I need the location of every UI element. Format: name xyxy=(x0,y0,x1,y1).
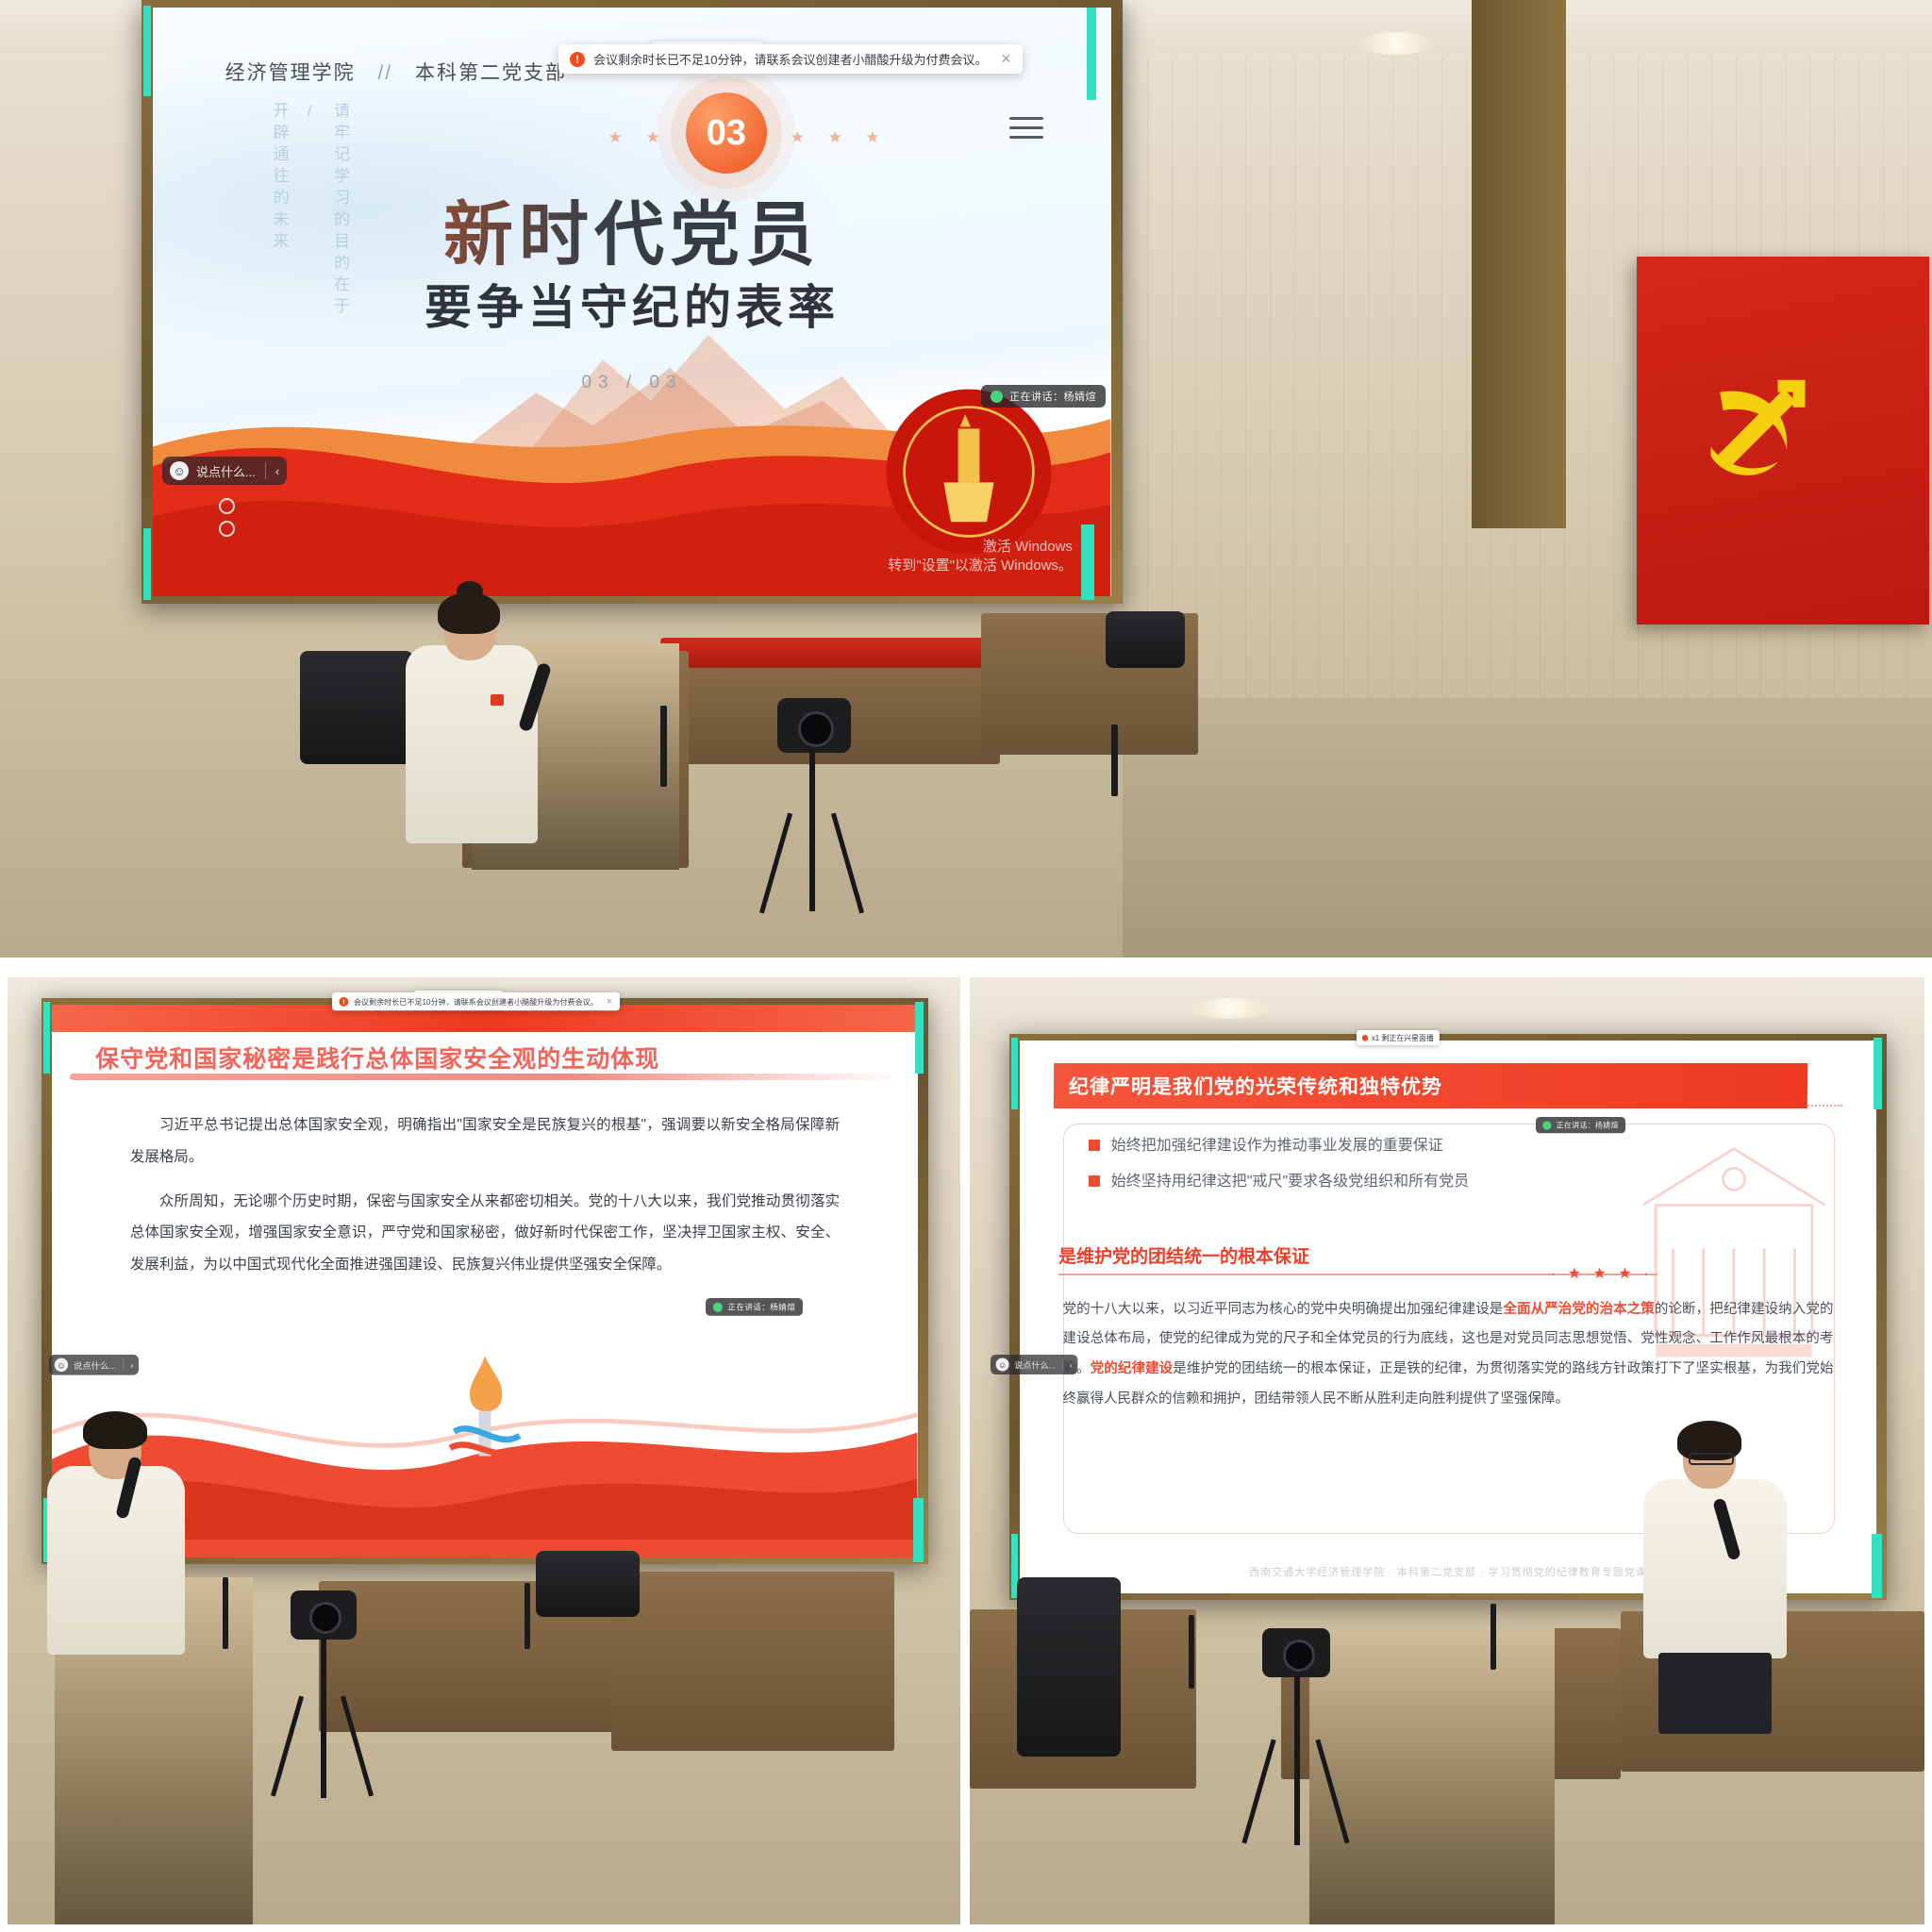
tripod-leg xyxy=(1241,1740,1275,1844)
chat-input-bar[interactable]: ☺ 说点什么... ‹ xyxy=(991,1355,1078,1374)
presenter-bun xyxy=(457,581,483,602)
chat-placeholder[interactable]: 说点什么... xyxy=(1014,1358,1056,1371)
microphone-icon xyxy=(713,1302,723,1311)
emoji-icon[interactable]: ☺ xyxy=(55,1358,68,1372)
title-underline xyxy=(70,1074,901,1080)
corner-accent xyxy=(913,1498,924,1562)
ceiling-light xyxy=(1358,32,1434,55)
tripod-leg xyxy=(809,751,815,911)
chair xyxy=(1106,611,1185,668)
speaker-name: 正在讲话：杨婧煊 xyxy=(1009,389,1096,404)
gooseneck-microphone xyxy=(1111,724,1118,796)
tripod-leg xyxy=(1315,1740,1349,1844)
section-number-badge: 03 xyxy=(686,92,767,174)
photo-panel-bottom-right: 认清重大意义，坚定不移严守党的纪律 纪律严明是我们党的光荣传统和独特优势 xyxy=(970,977,1924,1924)
active-speaker-pill: 正在讲话：杨婧煊 xyxy=(981,385,1106,408)
presenter xyxy=(36,1411,196,1694)
recording-dot-icon xyxy=(1362,1035,1368,1041)
divider xyxy=(123,1358,124,1371)
gooseneck-microphone xyxy=(525,1583,530,1649)
speaker-name: 正在讲话：杨婧煊 xyxy=(727,1301,795,1312)
chat-placeholder[interactable]: 说点什么... xyxy=(74,1358,116,1372)
header-college: 经济管理学院 xyxy=(225,62,356,84)
emoji-icon[interactable]: ☺ xyxy=(170,461,189,480)
list-item: 始终坚持用纪律这把"戒尺"要求各级党组织和所有党员 xyxy=(1089,1171,1825,1193)
camera-lens xyxy=(1283,1640,1315,1672)
divider xyxy=(1062,1358,1063,1371)
camera-tripod xyxy=(755,698,868,915)
corner-accent xyxy=(1087,8,1096,100)
windows-activation-watermark: 激活 Windows 转到"设置"以激活 Windows。 xyxy=(888,538,1073,576)
chair xyxy=(536,1551,640,1617)
gooseneck-microphone xyxy=(660,706,667,787)
tripod-leg xyxy=(1294,1675,1300,1845)
presenter-glasses xyxy=(1689,1453,1734,1465)
photo-panel-top: 经济管理学院 // 本科第二党支部 请牢记学习的目的在于 / 开辟通往的未来 ★… xyxy=(0,0,1932,958)
chat-input-bar[interactable]: ☺ 说点什么... ‹ xyxy=(49,1355,139,1375)
ceiling-light xyxy=(1187,998,1272,1019)
presenter xyxy=(396,592,547,904)
party-emblem-icon xyxy=(879,382,1058,561)
slide-title: 保守党和国家秘密是践行总体国家安全观的生动体现 xyxy=(95,1041,891,1074)
toast-message: 会议剩余时长已不足10分钟，请联系会议创建者小醋酸升级为付费会议。 xyxy=(593,50,987,68)
header-branch: 本科第二党支部 xyxy=(415,62,567,84)
band-title: 纪律严明是我们党的光荣传统和独特优势 xyxy=(1054,1063,1807,1108)
meeting-expiry-toast: ! 会议剩余时长已不足10分钟，请联系会议创建者小醋酸升级为付费会议。 ✕ xyxy=(332,992,620,1010)
para-highlight: 党的纪律建设 xyxy=(1091,1361,1174,1376)
corner-accent xyxy=(1872,1534,1882,1598)
tripod-leg xyxy=(759,812,792,913)
tripod-leg xyxy=(321,1638,326,1798)
gooseneck-microphone xyxy=(1189,1615,1194,1689)
camera-tripod xyxy=(272,1591,375,1798)
slide-subtitle: 要争当守纪的表率 xyxy=(153,270,1110,338)
bullet-list: 始终把加强纪律建设作为推动事业发展的重要保证 始终坚持用纪律这把"戒尺"要求各级… xyxy=(1089,1135,1825,1207)
close-icon[interactable]: ✕ xyxy=(606,996,612,1007)
chevron-left-icon[interactable]: ‹ xyxy=(1070,1359,1073,1370)
screen-bezel: 经济管理学院 // 本科第二党支部 请牢记学习的目的在于 / 开辟通往的未来 ★… xyxy=(153,8,1110,597)
camera-lens xyxy=(309,1602,341,1634)
corner-accent xyxy=(143,6,151,96)
chat-placeholder[interactable]: 说点什么... xyxy=(196,462,256,480)
paragraph: 众所周知，无论哪个历史时期，保密与国家安全从来都密切相关。党的十八大以来，我们党… xyxy=(130,1186,840,1280)
party-flag xyxy=(1637,257,1929,625)
bullet-text: 始终坚持用纪律这把"戒尺"要求各级党组织和所有党员 xyxy=(1111,1171,1469,1193)
bullet-square-icon xyxy=(1089,1140,1100,1151)
gooseneck-microphone xyxy=(223,1577,228,1649)
speaker-name: 正在讲话：杨婧煊 xyxy=(1557,1120,1619,1131)
corner-accent xyxy=(1011,1038,1018,1109)
chair xyxy=(1017,1577,1121,1757)
slide-new-era-party-member: 经济管理学院 // 本科第二党支部 请牢记学习的目的在于 / 开辟通往的未来 ★… xyxy=(153,8,1110,597)
table-skirt xyxy=(660,638,1000,668)
corner-accent xyxy=(1081,525,1094,600)
bullet-square-icon xyxy=(1089,1175,1100,1187)
reaction-icon[interactable] xyxy=(219,521,235,537)
alert-icon: ! xyxy=(570,52,585,67)
presenter xyxy=(1630,1421,1800,1732)
divider xyxy=(265,462,266,479)
chat-input-bar[interactable]: ☺ 说点什么... ‹ xyxy=(162,457,287,485)
slide-title: 新时代党员 xyxy=(153,178,1110,279)
close-icon[interactable]: ✕ xyxy=(1000,51,1011,67)
side-desk xyxy=(611,1572,894,1751)
slide-body: 习近平总书记提出总体国家安全观，明确指出"国家安全是民族复兴的根基"，强调要以新… xyxy=(130,1109,840,1293)
corner-accent xyxy=(143,528,151,600)
alert-icon: ! xyxy=(339,997,348,1007)
chevron-left-icon[interactable]: ‹ xyxy=(130,1359,133,1370)
presenter-trousers xyxy=(1658,1653,1772,1734)
window-frame xyxy=(1472,0,1566,528)
list-item: 始终把加强纪律建设作为推动事业发展的重要保证 xyxy=(1089,1135,1825,1158)
meeting-timer-pill: x1 剩正在兴星面播 xyxy=(1357,1030,1440,1045)
corner-accent xyxy=(1874,1038,1882,1109)
hammer-sickle-icon xyxy=(1690,345,1841,500)
active-speaker-pill: 正在讲话：杨婧煊 xyxy=(706,1298,803,1316)
ribbon-torch-icon xyxy=(433,1352,537,1474)
microphone-icon xyxy=(1542,1121,1551,1129)
presenter-body xyxy=(47,1466,185,1655)
para-part: 党的十八大以来，以习近平同志为核心的党中央明确提出加强纪律建设是 xyxy=(1063,1302,1504,1317)
stars-decoration: · ★ ★ ★ · xyxy=(1551,1264,1652,1283)
wall-lower xyxy=(1123,698,1932,958)
bullet-text: 始终把加强纪律建设作为推动事业发展的重要保证 xyxy=(1111,1135,1443,1158)
slide-paragraph: 党的十八大以来，以习近平同志为核心的党中央明确提出加强纪律建设是全面从严治党的治… xyxy=(1063,1295,1834,1416)
presenter-body xyxy=(406,645,538,843)
para-part: 是维护党的团结统一的根本保证，正是铁的纪律，为贯彻落实党的路线方针政策打下了坚实… xyxy=(1063,1361,1834,1407)
corner-accent xyxy=(43,1002,50,1074)
tripod-leg xyxy=(831,812,864,913)
header-separator: // xyxy=(377,62,392,84)
hamburger-menu-icon[interactable] xyxy=(1009,110,1043,145)
meeting-expiry-toast: ! 会议剩余时长已不足10分钟，请联系会议创建者小醋酸升级为付费会议。 ✕ xyxy=(558,44,1023,74)
camera-lens xyxy=(798,711,834,747)
photo-panel-bottom-left: 保守党和国家秘密是践行总体国家安全观的生动体现 习近平总书记提出总体国家安全观，… xyxy=(8,977,960,1924)
tripod-leg xyxy=(271,1695,304,1796)
slide-header: 经济管理学院 // 本科第二党支部 xyxy=(225,58,567,86)
presenter-badge xyxy=(491,694,504,706)
active-speaker-pill: 正在讲话：杨婧煊 xyxy=(1536,1117,1625,1133)
stars-right: ★ ★ ★ xyxy=(790,128,889,147)
paragraph: 习近平总书记提出总体国家安全观，明确指出"国家安全是民族复兴的根基"，强调要以新… xyxy=(130,1109,840,1173)
photo-collage: 经济管理学院 // 本科第二党支部 请牢记学习的目的在于 / 开辟通往的未来 ★… xyxy=(0,0,1932,1932)
emoji-icon[interactable]: ☺ xyxy=(996,1358,1009,1372)
timer-text: x1 剩正在兴星面播 xyxy=(1372,1032,1434,1043)
camera-tripod xyxy=(1243,1628,1347,1845)
presenter-hair xyxy=(83,1411,147,1449)
toast-message: 会议剩余时长已不足10分钟，请联系会议创建者小醋酸升级为付费会议。 xyxy=(354,996,598,1008)
microphone-icon xyxy=(991,391,1003,403)
chevron-left-icon[interactable]: ‹ xyxy=(275,464,279,478)
corner-accent xyxy=(915,1002,924,1074)
para-highlight: 全面从严治党的治本之策 xyxy=(1503,1302,1654,1317)
reaction-icon[interactable] xyxy=(219,498,235,514)
tripod-leg xyxy=(341,1695,374,1796)
gooseneck-microphone xyxy=(1491,1604,1496,1670)
projection-screen-frame: 经济管理学院 // 本科第二党支部 请牢记学习的目的在于 / 开辟通往的未来 ★… xyxy=(142,0,1123,604)
reaction-buttons[interactable] xyxy=(219,498,235,537)
